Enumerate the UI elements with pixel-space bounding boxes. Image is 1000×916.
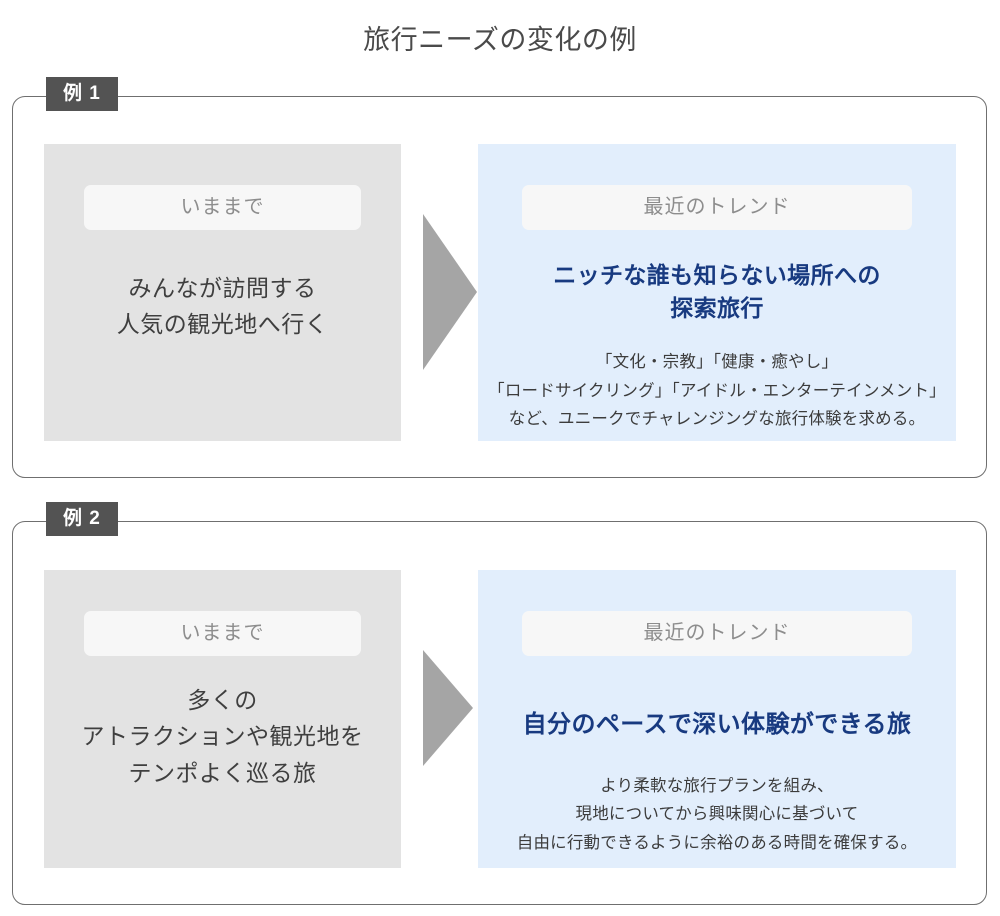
after-body-line: 「ロードサイクリング」「アイドル・エンターテインメント」 (478, 377, 956, 405)
after-pill-1: 最近のトレンド (522, 185, 912, 230)
after-body-line: より柔軟な旅行プランを組み、 (478, 772, 956, 800)
example-card-2-content: いままで 多くの アトラクションや観光地を テンポよく巡る旅 最近のトレンド 自… (13, 522, 986, 904)
after-pill-2: 最近のトレンド (522, 611, 912, 656)
after-body-line: 「文化・宗教」「健康・癒やし」 (478, 348, 956, 376)
after-body-2: より柔軟な旅行プランを組み、 現地についてから興味関心に基づいて 自由に行動でき… (478, 772, 956, 857)
before-line: 人気の観光地へ行く (44, 306, 401, 342)
before-body-2: 多くの アトラクションや観光地を テンポよく巡る旅 (44, 682, 401, 791)
after-heading-line: ニッチな誰も知らない場所への (478, 259, 956, 292)
example-card-1: 例 1 いままで みんなが訪問する 人気の観光地へ行く 最近のトレンド ニッチな… (12, 96, 987, 478)
example-badge-2: 例 2 (46, 502, 118, 536)
example-badge-1: 例 1 (46, 77, 118, 111)
before-pill-2: いままで (84, 611, 361, 656)
arrow-right-icon (423, 214, 477, 370)
before-line: テンポよく巡る旅 (44, 755, 401, 791)
after-heading-2: 自分のペースで深い体験ができる旅 (478, 708, 956, 742)
after-heading-line: 探索旅行 (478, 292, 956, 325)
after-heading-1: ニッチな誰も知らない場所への 探索旅行 (478, 259, 956, 324)
example-card-2: 例 2 いままで 多くの アトラクションや観光地を テンポよく巡る旅 最近のトレ… (12, 521, 987, 905)
after-panel-2: 最近のトレンド 自分のペースで深い体験ができる旅 より柔軟な旅行プランを組み、 … (478, 570, 956, 868)
before-panel-1: いままで みんなが訪問する 人気の観光地へ行く (44, 144, 401, 441)
arrow-right-icon (423, 650, 473, 766)
before-line: 多くの (44, 682, 401, 718)
after-heading-line: 自分のペースで深い体験ができる旅 (478, 708, 956, 742)
before-panel-2: いままで 多くの アトラクションや観光地を テンポよく巡る旅 (44, 570, 401, 868)
after-body-line: 自由に行動できるように余裕のある時間を確保する。 (478, 829, 956, 857)
example-card-1-content: いままで みんなが訪問する 人気の観光地へ行く 最近のトレンド ニッチな誰も知ら… (13, 97, 986, 477)
diagram-page: 旅行ニーズの変化の例 例 1 いままで みんなが訪問する 人気の観光地へ行く 最… (0, 0, 1000, 916)
after-body-line: 現地についてから興味関心に基づいて (478, 800, 956, 828)
after-body-line: など、ユニークでチャレンジングな旅行体験を求める。 (478, 405, 956, 433)
before-line: みんなが訪問する (44, 270, 401, 306)
before-line: アトラクションや観光地を (44, 718, 401, 754)
before-pill-1: いままで (84, 185, 361, 230)
before-body-1: みんなが訪問する 人気の観光地へ行く (44, 270, 401, 343)
page-title: 旅行ニーズの変化の例 (0, 18, 1000, 57)
after-body-1: 「文化・宗教」「健康・癒やし」 「ロードサイクリング」「アイドル・エンターテイン… (478, 348, 956, 433)
after-panel-1: 最近のトレンド ニッチな誰も知らない場所への 探索旅行 「文化・宗教」「健康・癒… (478, 144, 956, 441)
